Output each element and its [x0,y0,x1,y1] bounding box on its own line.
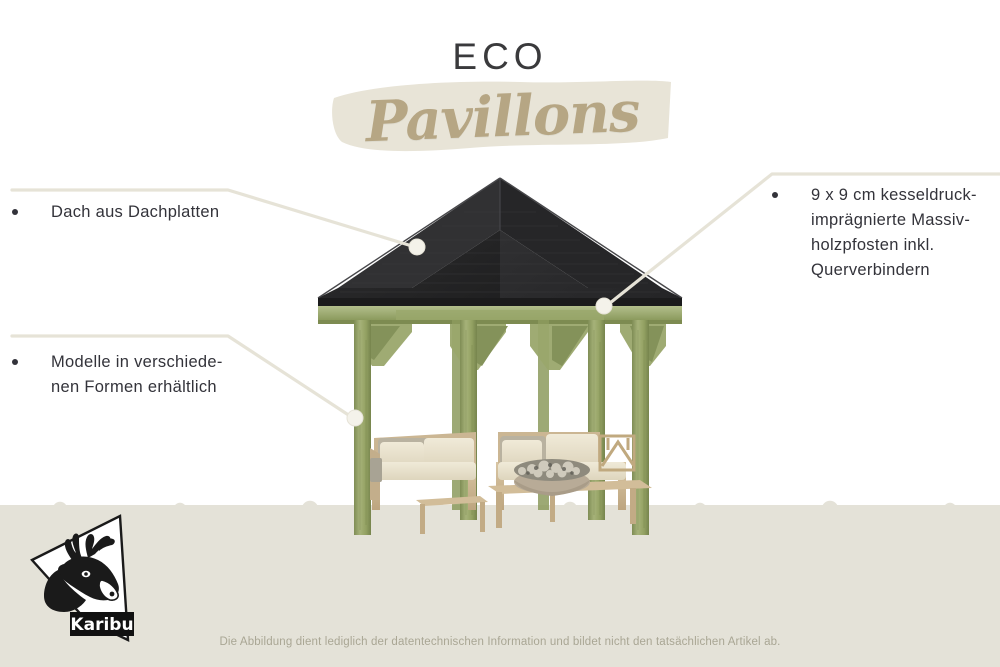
page-title-pavillons: Pavillons [329,69,677,164]
callout-posts: 9 x 9 cm kesseldruck- imprägnierte Massi… [772,183,977,283]
callout-roof: Dach aus Dachplatten [12,200,219,225]
script-title-banner: Pavillons [330,76,675,158]
callout-roof-line-1: Dach aus Dachplatten [51,200,219,225]
callout-models: Modelle in verschiede- nen Formen erhält… [12,350,223,400]
callout-posts-line-4: Querverbindern [811,258,977,283]
callout-roof-text: Dach aus Dachplatten [51,200,219,225]
callout-posts-line-1: 9 x 9 cm kesseldruck- [811,183,977,208]
disclaimer-text: Die Abbildung dient lediglich der datent… [0,636,1000,648]
bullet-icon [772,192,778,198]
pavilion-roof [318,178,682,306]
callout-posts-text: 9 x 9 cm kesseldruck- imprägnierte Massi… [811,183,977,283]
callout-models-line-1: Modelle in verschiede- [51,350,223,375]
callout-posts-line-2: imprägnierte Massiv- [811,208,977,233]
callout-posts-line-3: holzpfosten inkl. [811,233,977,258]
callout-models-text: Modelle in verschiede- nen Formen erhält… [51,350,223,400]
callout-models-line-2: nen Formen erhältlich [51,375,223,400]
bullet-icon [12,209,18,215]
pavilion-illustration [300,170,700,540]
logo-wordmark: Karibu [70,615,133,635]
pavilion-cross-braces [360,324,666,370]
karibu-logo: Karibu [24,512,150,652]
pavilion-furniture [370,432,652,534]
page-title-eco: ECO [0,36,1000,78]
pavilion-eave-beam [318,306,682,324]
poster-canvas: ECO Pavillons Dach aus Dachplatten Model… [0,0,1000,667]
bullet-icon [12,359,18,365]
